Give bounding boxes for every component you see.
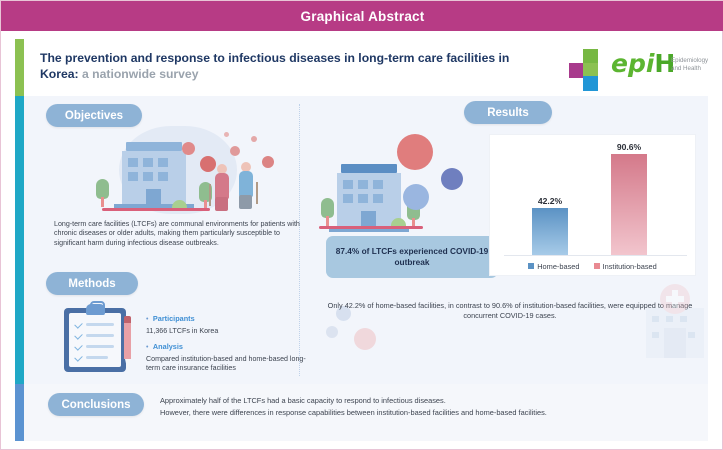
methods-item-analysis: • Analysis Compared institution-based an… bbox=[146, 336, 316, 373]
building-window bbox=[143, 172, 153, 181]
methods-heading: Analysis bbox=[153, 342, 183, 351]
pen-icon bbox=[124, 316, 131, 370]
hospital-icon bbox=[636, 284, 714, 359]
chart-legend: Home-based Institution-based bbox=[490, 259, 695, 273]
building-window bbox=[158, 158, 168, 167]
building-window bbox=[128, 172, 138, 181]
logo-square-green-icon bbox=[583, 49, 598, 64]
methods-heading: Participants bbox=[153, 314, 195, 323]
article-title-subtitle: a nationwide survey bbox=[79, 67, 199, 81]
hospital-window bbox=[666, 316, 673, 322]
clipboard-line bbox=[86, 323, 114, 326]
hospital-window bbox=[688, 332, 695, 338]
badge-results-label: Results bbox=[487, 107, 529, 119]
logo-tagline-line1: Epidemiology bbox=[671, 57, 708, 65]
results-illustration bbox=[319, 126, 509, 236]
clipboard-line bbox=[86, 356, 108, 359]
journal-logo: epiH Epidemiology and Health bbox=[549, 43, 714, 91]
methods-body: Compared institution-based and home-base… bbox=[146, 355, 316, 373]
conclusions-text: Approximately half of the LTCFs had a ba… bbox=[160, 395, 700, 418]
virus-icon-purple bbox=[441, 168, 463, 190]
logo-wordmark-epi: epi bbox=[611, 49, 654, 78]
building-window bbox=[358, 180, 368, 189]
bar-value-label-home: 42.2% bbox=[520, 196, 580, 206]
bar-home-based bbox=[532, 208, 568, 255]
bullet-icon: • bbox=[146, 316, 148, 323]
chart-baseline-axis bbox=[504, 255, 687, 256]
building-roof bbox=[126, 142, 182, 151]
clipboard-line bbox=[86, 334, 114, 337]
clipboard-clip-ring bbox=[90, 301, 105, 312]
methods-body: 11,366 LTCFs in Korea bbox=[146, 327, 316, 336]
virus-icon-faded bbox=[326, 326, 338, 338]
badge-objectives-label: Objectives bbox=[65, 110, 123, 122]
results-callout: 87.4% of LTCFs experienced COVID-19 outb… bbox=[326, 236, 498, 278]
elderly-woman-icon bbox=[212, 164, 232, 212]
legend-label: Home-based bbox=[537, 262, 579, 271]
tree-icon bbox=[321, 198, 334, 226]
virus-icon-large bbox=[397, 134, 433, 170]
virus-icon bbox=[182, 142, 195, 155]
logo-wordmark: epiH bbox=[611, 51, 675, 77]
virus-icon bbox=[262, 156, 274, 168]
logo-square-magenta-icon bbox=[569, 63, 584, 78]
virus-icon bbox=[200, 156, 216, 172]
hospital-window bbox=[652, 316, 659, 322]
elderly-man-icon bbox=[236, 162, 256, 210]
graphical-abstract-page: Graphical Abstract The prevention and re… bbox=[0, 0, 723, 450]
clipboard-icon bbox=[64, 304, 136, 372]
title-block: The prevention and response to infectiou… bbox=[24, 39, 708, 96]
legend-swatch-icon bbox=[594, 263, 600, 269]
objectives-text: Long-term care facilities (LTCFs) are co… bbox=[54, 220, 302, 248]
virus-icon bbox=[224, 132, 229, 137]
chart-plot-area: 42.2% 90.6% bbox=[498, 143, 687, 256]
header-title: Graphical Abstract bbox=[301, 9, 425, 24]
logo-mark-icon bbox=[569, 49, 609, 87]
building-window bbox=[373, 180, 383, 189]
hospital-window bbox=[652, 332, 659, 338]
ground-line bbox=[319, 226, 423, 229]
tree-icon bbox=[96, 179, 109, 207]
accent-bar-blue bbox=[15, 384, 24, 441]
building-window bbox=[358, 194, 368, 203]
legend-swatch-icon bbox=[528, 263, 534, 269]
building-window bbox=[343, 194, 353, 203]
accent-bar-teal bbox=[15, 96, 24, 384]
badge-methods: Methods bbox=[46, 272, 138, 295]
body-panel: Objectives bbox=[24, 96, 708, 384]
building-window bbox=[158, 172, 168, 181]
building-window bbox=[373, 194, 383, 203]
virus-icon-blue bbox=[403, 184, 429, 210]
badge-results: Results bbox=[464, 101, 552, 124]
virus-icon-faded bbox=[354, 328, 376, 350]
ground-line bbox=[102, 208, 210, 211]
conclusions-line-2: However, there were differences in respo… bbox=[160, 407, 700, 419]
logo-tagline: Epidemiology and Health bbox=[671, 57, 708, 72]
conclusions-panel: Conclusions Approximately half of the LT… bbox=[24, 384, 708, 441]
clipboard-line bbox=[86, 345, 114, 348]
bar-value-label-institution: 90.6% bbox=[599, 142, 659, 152]
conclusions-line-1: Approximately half of the LTCFs had a ba… bbox=[160, 395, 700, 407]
building-window bbox=[343, 180, 353, 189]
results-callout-text: 87.4% of LTCFs experienced COVID-19 outb… bbox=[326, 246, 498, 269]
building-window bbox=[143, 158, 153, 167]
header-bar: Graphical Abstract bbox=[1, 1, 723, 31]
legend-label: Institution-based bbox=[603, 262, 657, 271]
logo-square-blue-icon bbox=[583, 76, 598, 91]
virus-icon bbox=[251, 136, 257, 142]
virus-icon bbox=[230, 146, 240, 156]
legend-item-home-based: Home-based bbox=[528, 262, 579, 271]
article-title: The prevention and response to infectiou… bbox=[40, 50, 520, 82]
methods-item-participants: • Participants 11,366 LTCFs in Korea bbox=[146, 308, 316, 336]
hospital-window bbox=[680, 316, 687, 322]
badge-methods-label: Methods bbox=[68, 278, 115, 290]
accent-bar-green bbox=[15, 39, 24, 96]
building-window bbox=[128, 158, 138, 167]
badge-conclusions-label: Conclusions bbox=[61, 399, 130, 411]
hospital-cross-icon bbox=[666, 296, 684, 302]
bullet-icon: • bbox=[146, 344, 148, 351]
legend-item-institution-based: Institution-based bbox=[594, 262, 657, 271]
badge-conclusions: Conclusions bbox=[48, 393, 144, 416]
logo-tagline-line2: and Health bbox=[671, 65, 708, 73]
building-roof bbox=[341, 164, 397, 173]
results-bar-chart: 42.2% 90.6% Home-based Institution-based bbox=[489, 134, 696, 276]
bar-institution-based bbox=[611, 154, 647, 255]
hospital-entrance bbox=[664, 328, 686, 358]
objectives-illustration bbox=[54, 124, 304, 216]
